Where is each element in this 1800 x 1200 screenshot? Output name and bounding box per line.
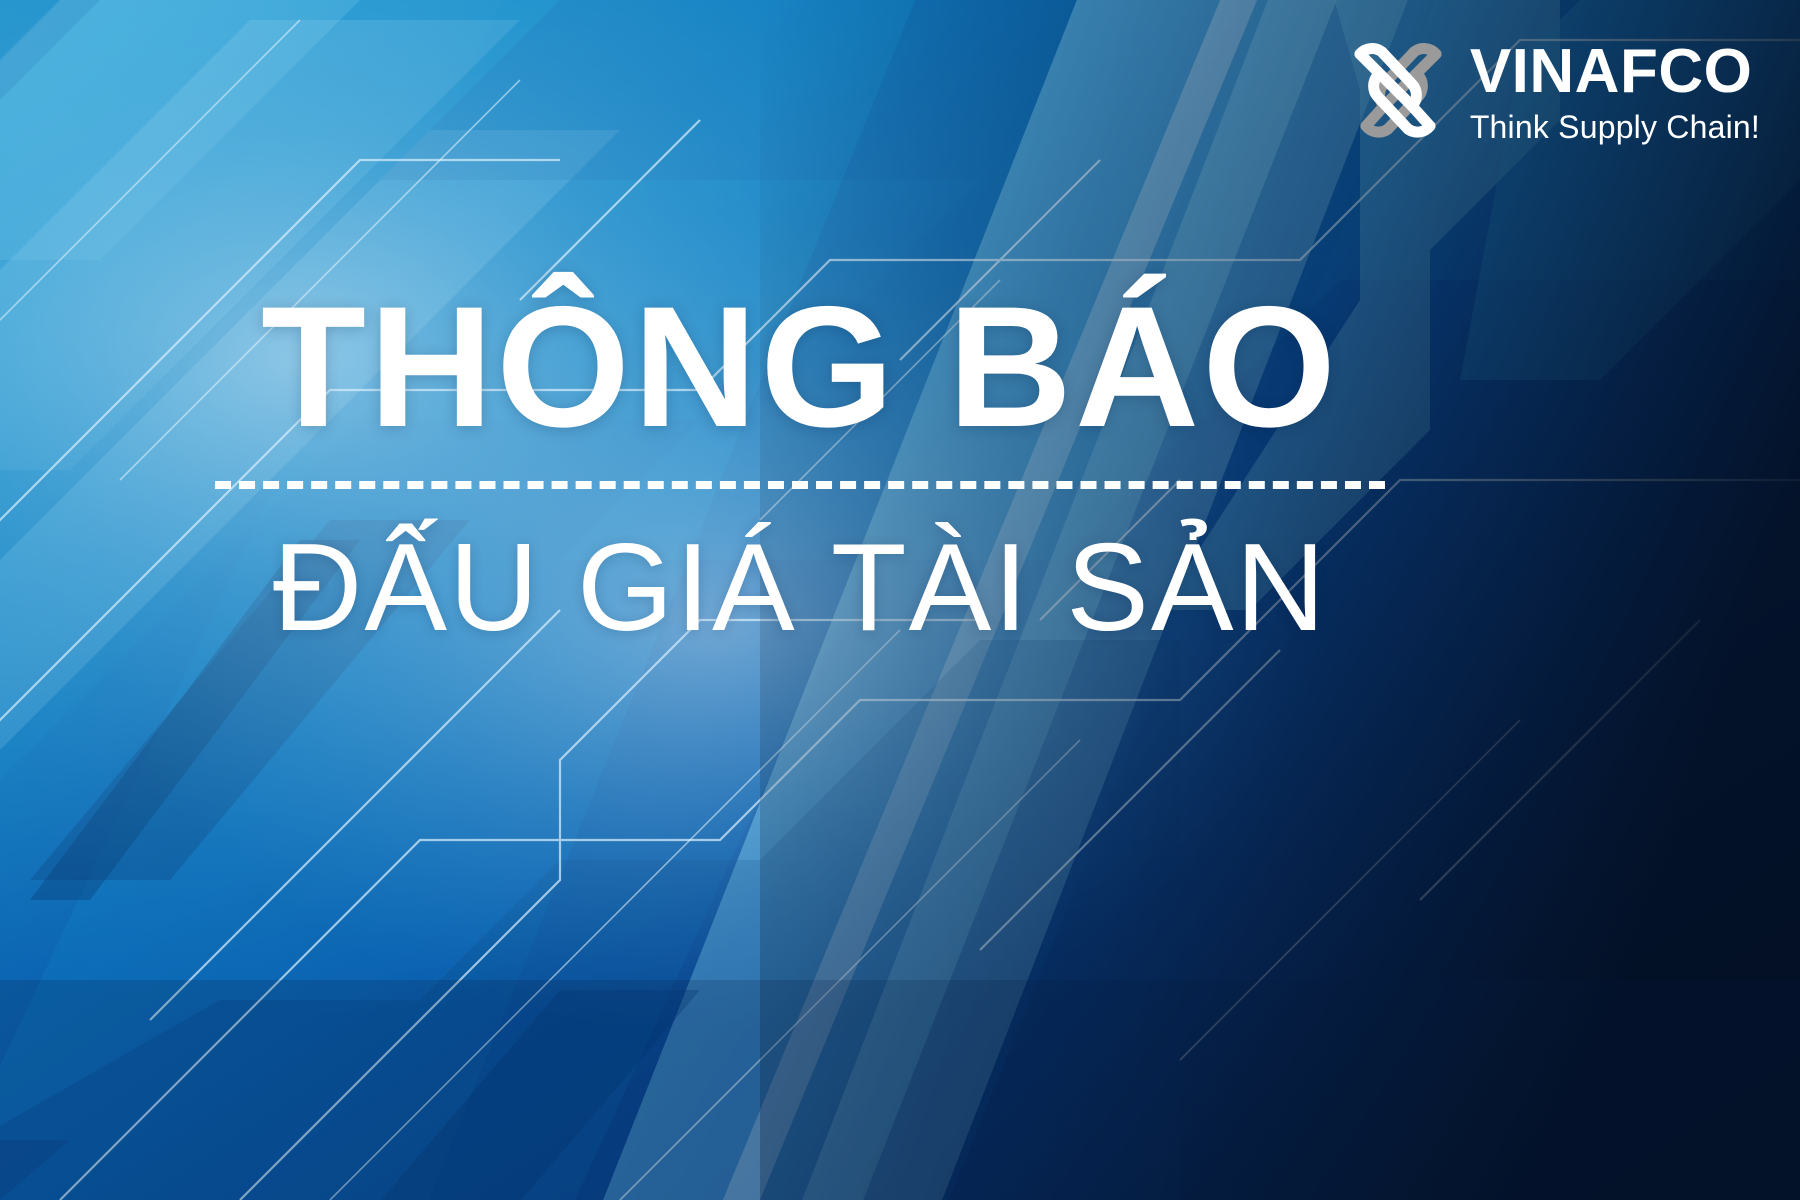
interlocking-chain-links-icon — [1344, 40, 1452, 144]
brand-tagline: Think Supply Chain! — [1470, 111, 1760, 143]
brand-name: VINAFCO — [1470, 41, 1760, 103]
page-subtitle: ĐẤU GIÁ TÀI SẢN — [60, 523, 1540, 653]
headline-block: THÔNG BÁO ĐẤU GIÁ TÀI SẢN — [0, 280, 1800, 654]
logo-text-group: VINAFCO Think Supply Chain! — [1470, 41, 1760, 143]
vinafco-logo: VINAFCO Think Supply Chain! — [1344, 40, 1760, 144]
dashed-divider — [215, 481, 1385, 489]
page-title: THÔNG BÁO — [60, 280, 1540, 455]
announcement-poster: VINAFCO Think Supply Chain! THÔNG BÁO ĐẤ… — [0, 0, 1800, 1200]
